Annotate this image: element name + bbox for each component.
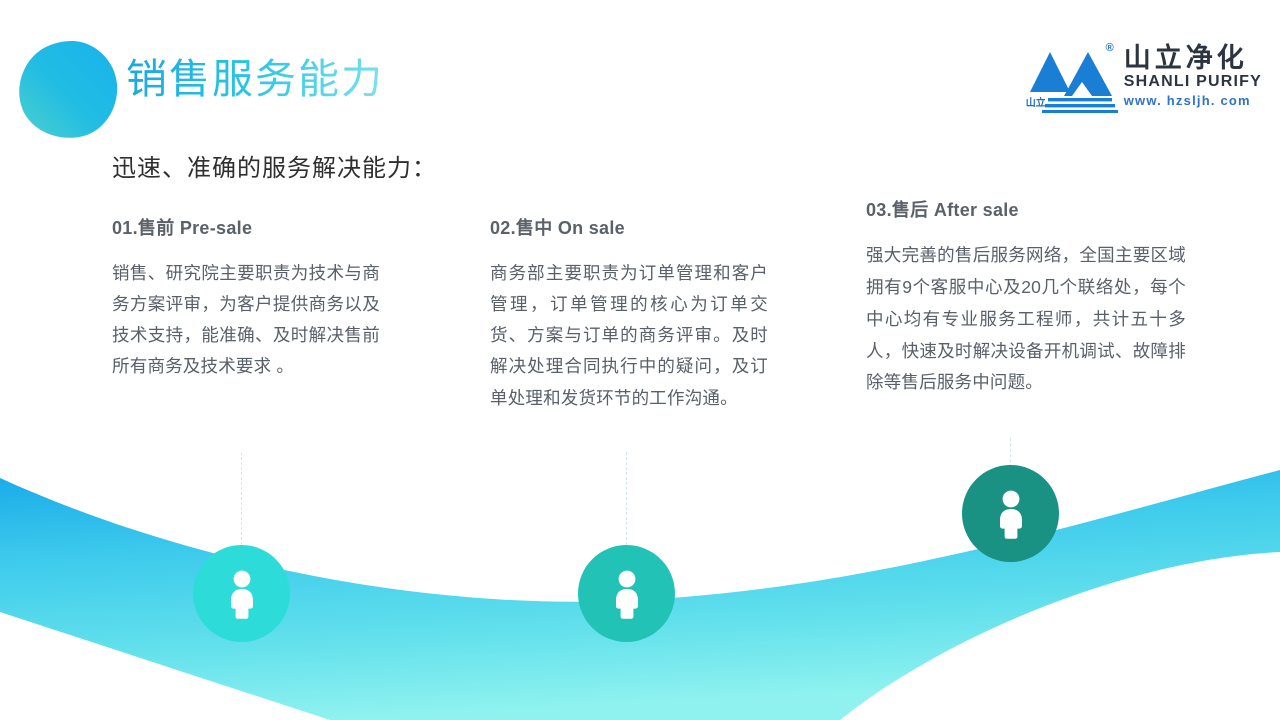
column-body-text: 销售、研究院主要职责为技术与商务方案评审，为客户提供商务以及技术支持，能准确、及…	[112, 258, 380, 383]
mountain-peaks-icon: ® 山立	[1026, 38, 1118, 113]
person-icon	[606, 568, 648, 620]
decorative-blob-icon	[16, 38, 120, 140]
column-heading: 03.售后 After sale	[866, 196, 1186, 222]
badge-after-sale[interactable]	[962, 465, 1059, 562]
badge-pre-sale[interactable]	[193, 545, 290, 642]
registered-trademark-icon: ®	[1106, 42, 1114, 54]
person-icon	[221, 568, 263, 620]
logo-text-block: 山立净化 SHANLI PURIFY www. hzsljh. com	[1124, 38, 1262, 108]
column-body-text: 强大完善的售后服务网络，全国主要区域拥有9个客服中心及20几个联络处，每个中心均…	[866, 240, 1186, 399]
column-heading: 02.售中 On sale	[490, 214, 768, 240]
service-column-pre-sale: 01.售前 Pre-sale 销售、研究院主要职责为技术与商务方案评审，为客户提…	[112, 214, 380, 383]
company-logo: ® 山立 山立净化 SHANLI PURIFY www. hzsljh. com	[1026, 38, 1262, 113]
badge-on-sale[interactable]	[578, 545, 675, 642]
logo-website-url: www. hzsljh. com	[1124, 93, 1262, 109]
person-icon	[990, 488, 1032, 540]
logo-name-cn: 山立净化	[1124, 44, 1262, 72]
page-title: 销售服务能力	[126, 56, 384, 103]
section-subtitle: 迅速、准确的服务解决能力：	[112, 148, 437, 183]
column-body-text: 商务部主要职责为订单管理和客户管理，订单管理的核心为订单交货、方案与订单的商务评…	[490, 258, 768, 414]
service-column-on-sale: 02.售中 On sale 商务部主要职责为订单管理和客户管理，订单管理的核心为…	[490, 214, 768, 414]
logo-name-en: SHANLI PURIFY	[1124, 73, 1262, 91]
slide-canvas: 销售服务能力 ® 山立 山立净化 SHANLI PURIFY www. hzsl…	[0, 0, 1280, 720]
connector-line-2	[626, 452, 627, 560]
connector-line-1	[241, 452, 242, 560]
column-heading: 01.售前 Pre-sale	[112, 214, 380, 240]
service-column-after-sale: 03.售后 After sale 强大完善的售后服务网络，全国主要区域拥有9个客…	[866, 196, 1186, 399]
logo-mark-caption: 山立	[1026, 94, 1046, 109]
